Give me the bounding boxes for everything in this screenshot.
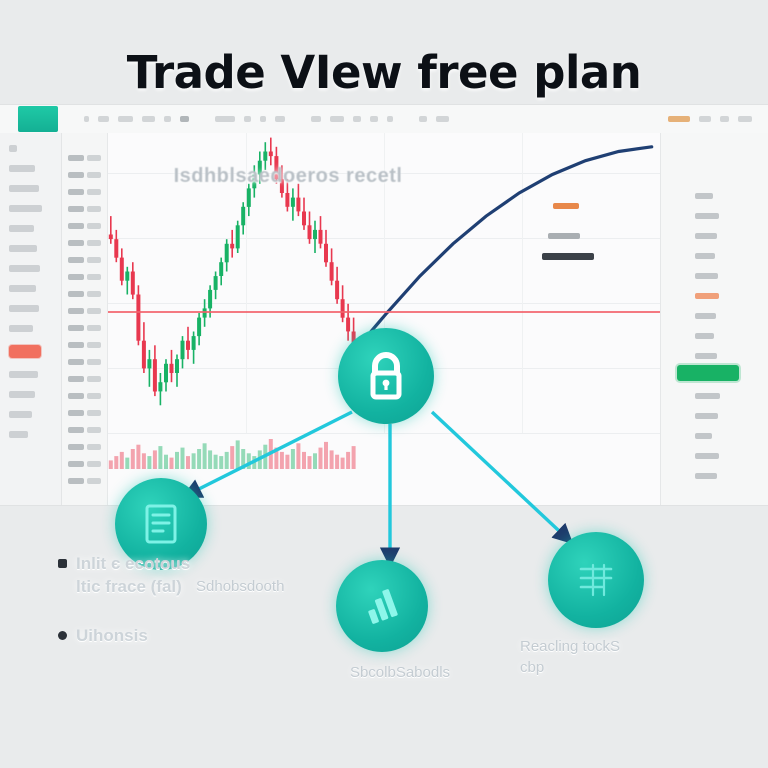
toolbar-item[interactable] [98,116,109,122]
watchlist-value [87,410,101,416]
toolbar-group-interval [215,116,285,122]
watchlist-row[interactable] [68,189,101,195]
toolbar-item[interactable] [275,116,285,122]
watchlist-symbol [68,155,84,161]
watchlist-symbol [68,240,84,246]
sidebar-item[interactable] [9,145,17,152]
feature-node-3[interactable] [548,532,644,628]
volume-series [108,433,660,471]
watchlist-row[interactable] [68,376,101,382]
bullet-text: Inlit є ecotous ltic frace (fal) [76,552,190,598]
watchlist-symbol [68,393,84,399]
watchlist-row[interactable] [68,291,101,297]
watchlist-value [87,172,101,178]
watchlist-symbol [68,478,84,484]
bullet-marker-dot [58,631,67,640]
sidebar-item[interactable] [9,305,39,312]
watchlist-value [87,376,101,382]
toolbar-item[interactable] [387,116,393,122]
sidebar-item[interactable] [9,411,32,418]
chart-note-chip [548,233,580,239]
price-axis-tick [695,433,712,439]
screenshot-root: Isdhblsaedoeros recetl Trade VIew free p… [0,0,768,768]
price-axis-tick [695,193,713,199]
sidebar-item[interactable] [9,431,28,438]
watchlist-value [87,189,101,195]
sidebar-item[interactable] [9,265,40,272]
watchlist-row[interactable] [68,393,101,399]
toolbar-item[interactable] [330,116,344,122]
watchlist-value [87,155,101,161]
bullet-text: Uihonsis [76,624,148,647]
watchlist-row[interactable] [68,223,101,229]
chart-overlay-title: Isdhblsaedoeros recetl [108,165,468,188]
watchlist-row[interactable] [68,155,101,161]
watchlist-row[interactable] [68,359,101,365]
watchlist-symbol [68,206,84,212]
sidebar-item[interactable] [9,325,33,332]
price-axis-tick [695,213,719,219]
toolbar-account-item[interactable] [738,116,752,122]
watchlist-row[interactable] [68,410,101,416]
price-axis-tick [695,393,720,399]
toolbar-item[interactable] [419,116,427,122]
watchlist-row[interactable] [68,444,101,450]
watchlist-symbol [68,257,84,263]
price-axis-tick [695,233,717,239]
watchlist-column [62,133,108,505]
bullet-list: Inlit є ecotous ltic frace (fal) Uihonsi… [58,552,348,673]
sidebar-item[interactable] [9,185,39,192]
watchlist-symbol [68,274,84,280]
watchlist-row[interactable] [68,240,101,246]
watchlist-symbol [68,342,84,348]
watchlist-symbol [68,172,84,178]
feature-node-3-label: Reacling tockS cbp [520,636,730,678]
toolbar-item[interactable] [215,116,235,122]
sidebar-item-selected[interactable] [9,345,41,358]
toolbar-item[interactable] [260,116,266,122]
price-axis-tick [695,353,717,359]
toolbar-item[interactable] [311,116,321,122]
toolbar-group-indicators [311,116,393,122]
bullet-item: Inlit є ecotous ltic frace (fal) [58,552,348,598]
watchlist-symbol [68,223,84,229]
feature-node-2[interactable] [336,560,428,652]
watchlist-row[interactable] [68,325,101,331]
watchlist-value [87,325,101,331]
watchlist-value [87,478,101,484]
watchlist-value [87,393,101,399]
page-title: Trade VIew free plan [0,46,768,99]
price-axis-tick [695,413,718,419]
watchlist-value [87,427,101,433]
watchlist-value [87,291,101,297]
toolbar-item[interactable] [142,116,155,122]
watchlist-value [87,274,101,280]
toolbar-item[interactable] [118,116,133,122]
left-sidebar [0,133,62,505]
watchlist-value [87,444,101,450]
toolbar-item[interactable] [720,116,729,122]
chart-alert-chip[interactable] [553,203,579,209]
watchlist-row[interactable] [68,427,101,433]
price-axis-tick [695,313,716,319]
price-axis-tick [695,333,714,339]
sidebar-item[interactable] [9,285,36,292]
chart-panel[interactable] [108,133,660,505]
watchlist-symbol [68,461,84,467]
watchlist-symbol [68,291,84,297]
watchlist-symbol [68,359,84,365]
app-toolbar [0,105,768,134]
toolbar-item[interactable] [370,116,378,122]
toolbar-item[interactable] [699,116,711,122]
price-axis-tick [695,273,718,279]
toolbar-item[interactable] [84,116,89,122]
sidebar-item[interactable] [9,391,35,398]
toolbar-group-right [668,116,752,122]
watchlist-row[interactable] [68,274,101,280]
watchlist-row[interactable] [68,308,101,314]
watchlist-value [87,240,101,246]
watchlist-symbol [68,444,84,450]
toolbar-brand-accent[interactable] [18,106,58,132]
bullet-marker-square [58,559,67,568]
watchlist-symbol [68,189,84,195]
current-price-badge [677,365,739,381]
toolbar-item[interactable] [436,116,449,122]
grid-data-icon [573,557,619,603]
watchlist-row[interactable] [68,478,101,484]
trading-app-window: Isdhblsaedoeros recetl [0,105,768,505]
toolbar-upgrade-badge[interactable] [668,116,690,122]
price-axis-tick [695,473,717,479]
watchlist-value [87,223,101,229]
sidebar-item[interactable] [9,371,38,378]
bullet-item: Uihonsis [58,624,348,647]
toolbar-group-left [84,116,189,122]
sidebar-item[interactable] [9,205,42,212]
watchlist-value [87,206,101,212]
chart-bars-icon [360,584,404,628]
chart-label-chip [542,253,594,260]
watchlist-row[interactable] [68,206,101,212]
watchlist-symbol [68,410,84,416]
watchlist-value [87,461,101,467]
watchlist-symbol [68,325,84,331]
watchlist-value [87,308,101,314]
watchlist-value [87,342,101,348]
watchlist-symbol [68,427,84,433]
price-axis-tick [695,253,715,259]
watchlist-value [87,257,101,263]
watchlist-symbol [68,308,84,314]
sidebar-item[interactable] [9,165,35,172]
watchlist-row[interactable] [68,342,101,348]
sidebar-item[interactable] [9,225,34,232]
current-price-line [108,311,660,313]
watchlist-symbol [68,376,84,382]
toolbar-item[interactable] [244,116,251,122]
toolbar-group-layout [419,116,449,122]
watchlist-row[interactable] [68,461,101,467]
toolbar-item[interactable] [180,116,189,122]
sidebar-item[interactable] [9,245,37,252]
toolbar-item[interactable] [353,116,361,122]
price-axis-tick [695,453,719,459]
watchlist-row[interactable] [68,257,101,263]
watchlist-value [87,359,101,365]
toolbar-item[interactable] [164,116,171,122]
price-axis-tick-highlight [695,293,719,299]
watchlist-row[interactable] [68,172,101,178]
document-list-icon [139,501,183,547]
price-axis[interactable] [660,133,768,505]
